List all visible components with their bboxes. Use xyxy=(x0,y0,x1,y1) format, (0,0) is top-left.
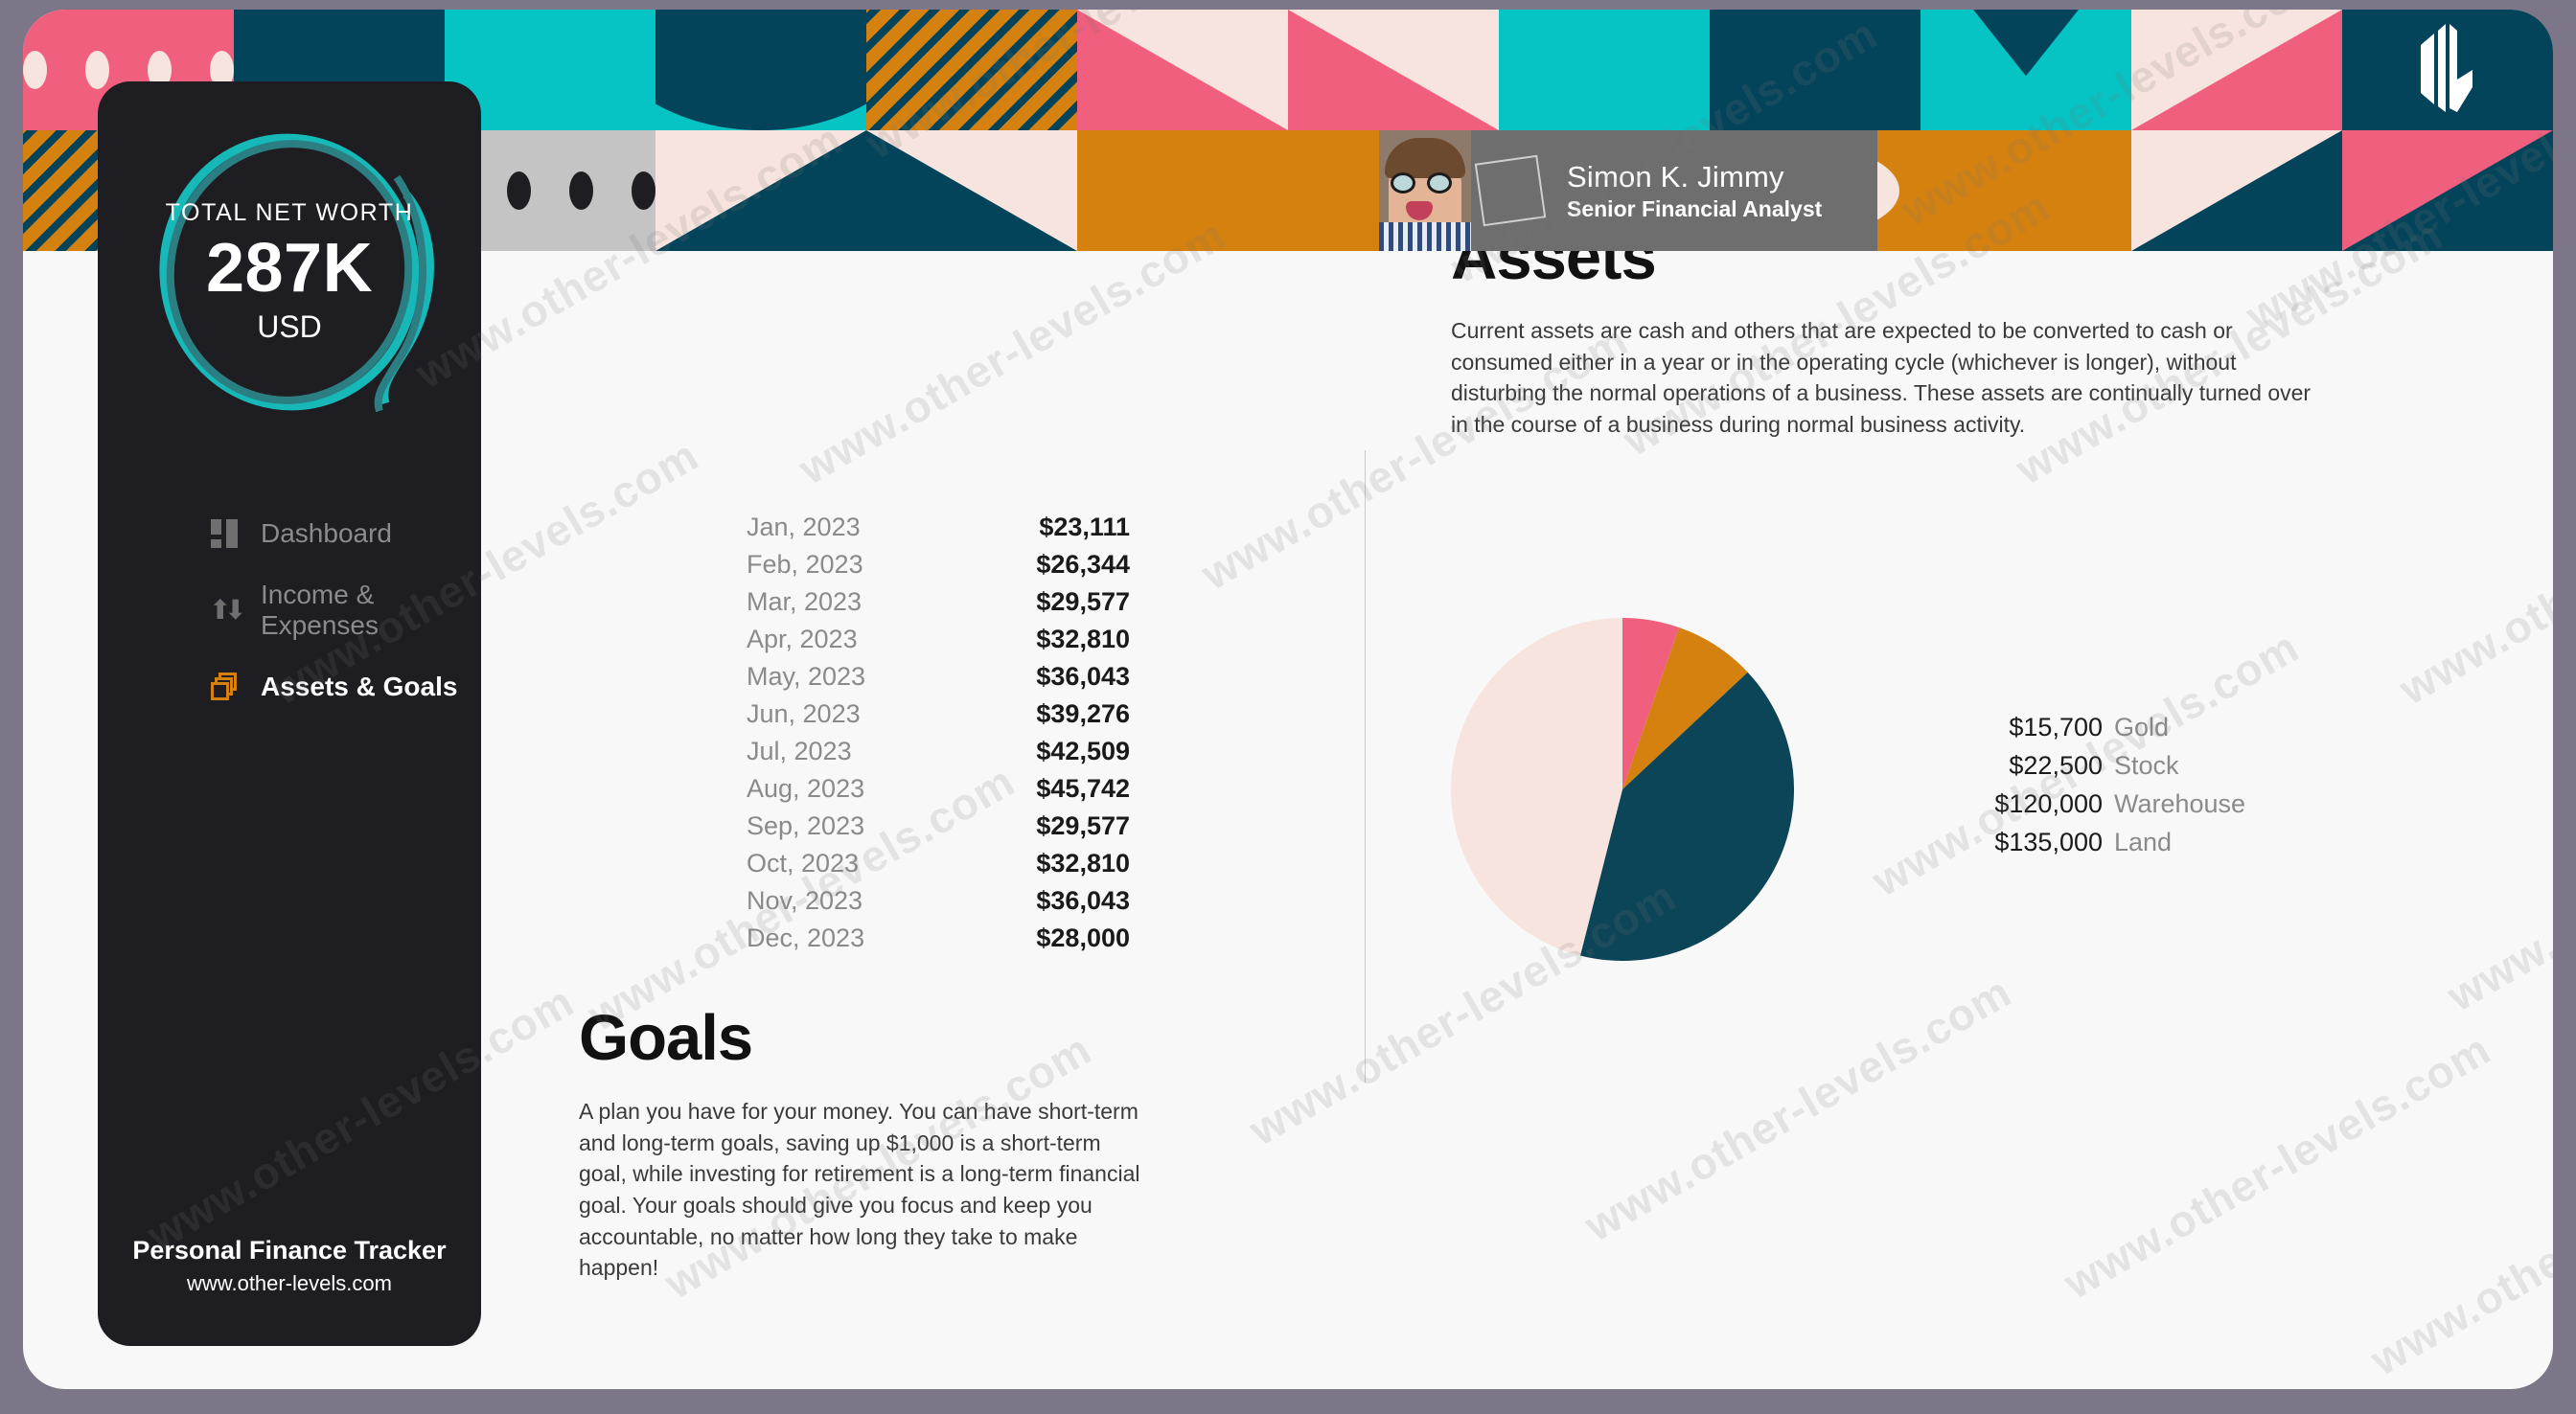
main-content: Jan, 2023 $23,111 Feb, 2023 $26,344 Mar,… xyxy=(512,259,2553,1389)
table-row: Aug, 2023 $45,742 xyxy=(747,774,1130,811)
sidebar-item-label: Income & Expenses xyxy=(261,580,481,641)
banner-tile-triangle xyxy=(2131,10,2342,130)
row-month: Aug, 2023 xyxy=(747,774,864,804)
dot xyxy=(23,51,47,89)
avatar xyxy=(1379,130,1471,251)
sidebar-nav: Dashboard ⬆⬇ Income & Expenses Assets & … xyxy=(98,495,481,725)
table-row: Jun, 2023 $39,276 xyxy=(747,699,1130,737)
row-amount: $36,043 xyxy=(1036,886,1130,916)
sidebar-item-dashboard[interactable]: Dashboard xyxy=(211,495,481,572)
app-url[interactable]: www.other-levels.com xyxy=(132,1271,446,1296)
table-row: Dec, 2023 $28,000 xyxy=(747,924,1130,961)
row-amount: $29,577 xyxy=(1036,811,1130,841)
sidebar-footer: Personal Finance Tracker www.other-level… xyxy=(132,1236,446,1296)
decorative-square-frame xyxy=(1475,155,1547,227)
dot xyxy=(85,51,109,89)
table-row: Sep, 2023 $29,577 xyxy=(747,811,1130,849)
app-window: Simon K. Jimmy Senior Financial Analyst … xyxy=(23,10,2553,1389)
banner-tile-triangle xyxy=(655,130,866,251)
net-worth-currency: USD xyxy=(257,309,322,345)
profile-name: Simon K. Jimmy xyxy=(1567,160,1822,194)
app-name: Personal Finance Tracker xyxy=(132,1236,446,1266)
sidebar-item-label: Dashboard xyxy=(261,518,392,549)
legend-label: Warehouse xyxy=(2114,789,2245,819)
banner-tile-stripes xyxy=(866,10,1077,130)
arrows-up-down-icon: ⬆⬇ xyxy=(211,596,240,625)
avatar-shirt xyxy=(1379,222,1471,251)
row-month: Oct, 2023 xyxy=(747,849,859,878)
table-row: May, 2023 $36,043 xyxy=(747,662,1130,699)
row-amount: $29,577 xyxy=(1036,587,1130,617)
row-month: Feb, 2023 xyxy=(747,550,863,580)
legend-item: $120,000 Warehouse xyxy=(1938,789,2245,828)
legend-item: $135,000 Land xyxy=(1938,828,2245,866)
legend-label: Stock xyxy=(2114,751,2179,781)
glasses-icon xyxy=(1389,172,1461,194)
table-row: Oct, 2023 $32,810 xyxy=(747,849,1130,886)
row-amount: $36,043 xyxy=(1036,662,1130,692)
legend-value: $22,500 xyxy=(1938,751,2103,781)
row-month: Jul, 2023 xyxy=(747,737,852,766)
legend-label: Gold xyxy=(2114,713,2169,742)
row-amount: $26,344 xyxy=(1036,550,1130,580)
dot xyxy=(507,171,531,210)
row-amount: $39,276 xyxy=(1036,699,1130,729)
pie-legend: $15,700 Gold $22,500 Stock $120,000 Ware… xyxy=(1938,713,2245,866)
brand-logo-icon xyxy=(2413,20,2482,120)
row-month: Dec, 2023 xyxy=(747,924,864,953)
row-month: Nov, 2023 xyxy=(747,886,862,916)
legend-value: $120,000 xyxy=(1938,789,2103,819)
row-month: Jan, 2023 xyxy=(747,513,861,542)
banner-tile-logo xyxy=(2342,10,2553,130)
goals-body: A plan you have for your money. You can … xyxy=(579,1096,1144,1284)
sidebar-item-label: Assets & Goals xyxy=(261,672,457,702)
row-amount: $42,509 xyxy=(1036,737,1130,766)
row-amount: $32,810 xyxy=(1036,849,1130,878)
row-month: Apr, 2023 xyxy=(747,625,858,654)
legend-item: $15,700 Gold xyxy=(1938,713,2245,751)
net-worth-value: 287K xyxy=(206,233,373,306)
row-amount: $32,810 xyxy=(1036,625,1130,654)
net-worth-gauge: TOTAL NET WORTH 287K USD xyxy=(123,120,456,424)
banner-tile xyxy=(1077,130,1288,251)
net-worth-label: TOTAL NET WORTH xyxy=(166,199,414,227)
row-amount: $28,000 xyxy=(1036,924,1130,953)
table-row: Feb, 2023 $26,344 xyxy=(747,550,1130,587)
profile-role: Senior Financial Analyst xyxy=(1567,196,1822,221)
stacked-squares-icon xyxy=(211,673,240,701)
sidebar-item-income-expenses[interactable]: ⬆⬇ Income & Expenses xyxy=(211,572,481,649)
assets-section: Assets Current assets are cash and other… xyxy=(1451,220,2409,441)
dot xyxy=(632,171,655,210)
table-row: Jan, 2023 $23,111 xyxy=(747,513,1130,550)
legend-value: $135,000 xyxy=(1938,828,2103,857)
row-month: Jun, 2023 xyxy=(747,699,861,729)
legend-value: $15,700 xyxy=(1938,713,2103,742)
banner-tile-triangle xyxy=(1077,10,1288,130)
sidebar-item-assets-goals[interactable]: Assets & Goals xyxy=(211,649,481,725)
assets-body: Current assets are cash and others that … xyxy=(1451,315,2323,441)
banner-tile-dome xyxy=(1920,10,2131,130)
table-row: Jul, 2023 $42,509 xyxy=(747,737,1130,774)
dashboard-icon xyxy=(211,519,240,548)
row-amount: $23,111 xyxy=(1039,513,1130,542)
table-row: Nov, 2023 $36,043 xyxy=(747,886,1130,924)
monthly-networth-table: Jan, 2023 $23,111 Feb, 2023 $26,344 Mar,… xyxy=(747,513,1130,961)
banner-tile xyxy=(1710,10,1920,130)
row-month: Mar, 2023 xyxy=(747,587,862,617)
table-row: Mar, 2023 $29,577 xyxy=(747,587,1130,625)
profile-text: Simon K. Jimmy Senior Financial Analyst xyxy=(1567,160,1822,221)
row-amount: $45,742 xyxy=(1036,774,1130,804)
banner-tile-triangle xyxy=(866,130,1077,251)
assets-pie-chart-block: $15,700 Gold $22,500 Stock $120,000 Ware… xyxy=(1451,618,2245,961)
assets-pie-chart xyxy=(1451,618,1794,961)
row-month: Sep, 2023 xyxy=(747,811,864,841)
banner-tile-dome xyxy=(655,10,866,130)
banner-tile-triangle xyxy=(1288,10,1499,130)
sidebar: TOTAL NET WORTH 287K USD Dashboard ⬆⬇ In… xyxy=(98,81,481,1346)
row-month: May, 2023 xyxy=(747,662,865,692)
vertical-divider xyxy=(1365,450,1366,1083)
goals-section: Goals A plan you have for your money. Yo… xyxy=(579,1001,1144,1284)
profile-bar[interactable]: Simon K. Jimmy Senior Financial Analyst xyxy=(1379,130,1877,251)
dot xyxy=(569,171,593,210)
legend-item: $22,500 Stock xyxy=(1938,751,2245,789)
table-row: Apr, 2023 $32,810 xyxy=(747,625,1130,662)
legend-label: Land xyxy=(2114,828,2172,857)
banner-tile xyxy=(1499,10,1710,130)
goals-title: Goals xyxy=(579,1001,1144,1075)
